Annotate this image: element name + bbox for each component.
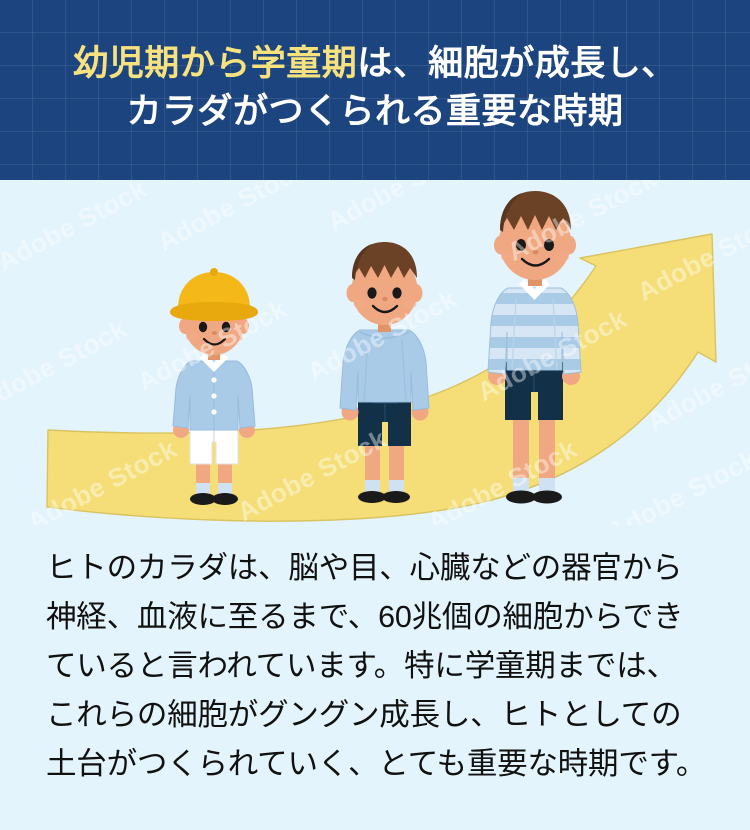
shoe-right (212, 493, 238, 505)
ear-left (179, 318, 191, 334)
shoe-left (358, 491, 386, 503)
eye-left (367, 287, 376, 298)
blush-left (186, 333, 198, 341)
eye-right (544, 239, 554, 251)
description-section: ヒトのカラダは、脳や目、心臓などの器官から 神経、血液に至るまで、60兆個の細胞… (0, 528, 750, 830)
blush-left (354, 300, 367, 308)
ear-left (494, 236, 508, 255)
title-rest-text: は、細胞が成長し、 (357, 44, 677, 83)
eye-left (199, 322, 207, 332)
title-line-2: カラダがつくられる重要な時期 (126, 90, 623, 134)
description-line: これらの細胞がグングン成長し、ヒトとしての (46, 691, 714, 740)
shirt-stripe-4 (485, 359, 585, 370)
cap-brim (170, 302, 258, 321)
title-line-1: 幼児期から学童期は、細胞が成長し、 (73, 42, 677, 86)
ear-right (410, 284, 423, 302)
description-line: 神経、血液に至るまで、60兆個の細胞からでき (46, 593, 714, 642)
header-banner: 幼児期から学童期は、細胞が成長し、 カラダがつくられる重要な時期 (0, 0, 750, 180)
blush-left (501, 253, 515, 262)
title-highlight-text: 幼児期から学童期 (73, 44, 357, 83)
eye-right (392, 287, 401, 298)
description-paragraph: ヒトのカラダは、脳や目、心臓などの器官から 神経、血液に至るまで、60兆個の細胞… (46, 544, 714, 789)
shirt-button-2 (211, 393, 216, 398)
blush-right (555, 253, 569, 262)
shirt-button-3 (211, 409, 216, 414)
shirt-stripe-3 (485, 337, 585, 348)
shoe-right (532, 491, 562, 504)
shoe-left (506, 491, 536, 504)
sock-right (539, 478, 555, 491)
ear-right (237, 318, 249, 334)
sock-left (365, 480, 380, 492)
shirt-stripe-2 (485, 315, 585, 326)
description-line: ていると言われています。特に学童期までは、 (46, 642, 714, 691)
nose (382, 297, 388, 301)
eye-left (516, 239, 526, 251)
shirt-button-1 (211, 377, 216, 382)
shoe-right (382, 491, 410, 503)
infographic-page: 幼児期から学童期は、細胞が成長し、 カラダがつくられる重要な時期 (0, 0, 750, 830)
ear-right (562, 236, 576, 255)
cap-button (210, 268, 218, 276)
sock-left (513, 478, 529, 491)
eye-right (222, 322, 230, 332)
blush-right (404, 300, 417, 308)
nose (212, 331, 217, 335)
description-line: ヒトのカラダは、脳や目、心臓などの器官から (46, 544, 714, 593)
growth-illustration (0, 180, 750, 525)
sweatshirt (340, 330, 429, 410)
blush-right (231, 333, 243, 341)
description-line: 土台がつくられていく、とても重要な時期です。 (46, 740, 714, 789)
sock-right (389, 480, 404, 492)
header-title-block: 幼児期から学童期は、細胞が成長し、 カラダがつくられる重要な時期 (0, 0, 750, 180)
nose (533, 250, 539, 255)
ear-left (347, 284, 360, 302)
illustration-area: Adobe Stock Adobe Stock Adobe Stock Adob… (0, 180, 750, 525)
